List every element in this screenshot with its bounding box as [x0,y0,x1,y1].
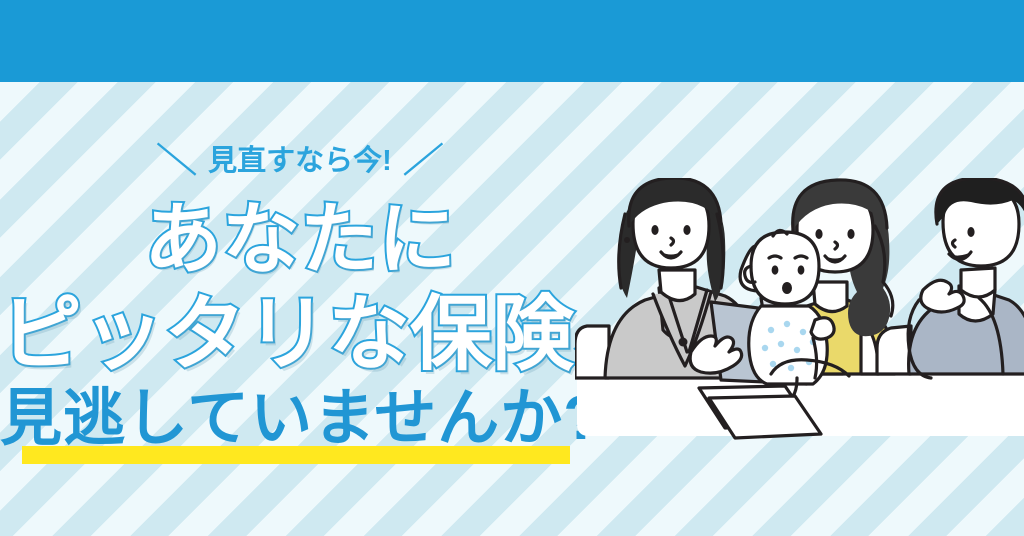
insurance-banner: あなたのライフプランに最適な保険を。 ＼ 見直すなら今! ／ あなたに ピッタリ… [0,0,1024,536]
header-bar [0,0,1024,82]
headline-line-3-wrapper: 見逃していませんか? [0,388,600,450]
headline-line-2: ピッタリな保険、 [0,294,600,376]
eyebrow-text: ＼ 見直すなら今! ／ [0,144,600,178]
headline-block: ＼ 見直すなら今! ／ あなたに ピッタリな保険、 見逃していませんか? [0,82,600,536]
slash-right-icon: ／ [402,144,443,178]
insurance-consultation-illustration [575,178,1024,440]
headline-line-3: 見逃していませんか? [0,388,602,450]
headline-line-1: あなたに [0,200,600,278]
slash-left-icon: ＼ [157,144,198,178]
eyebrow-label: 見直すなら今! [208,147,392,176]
